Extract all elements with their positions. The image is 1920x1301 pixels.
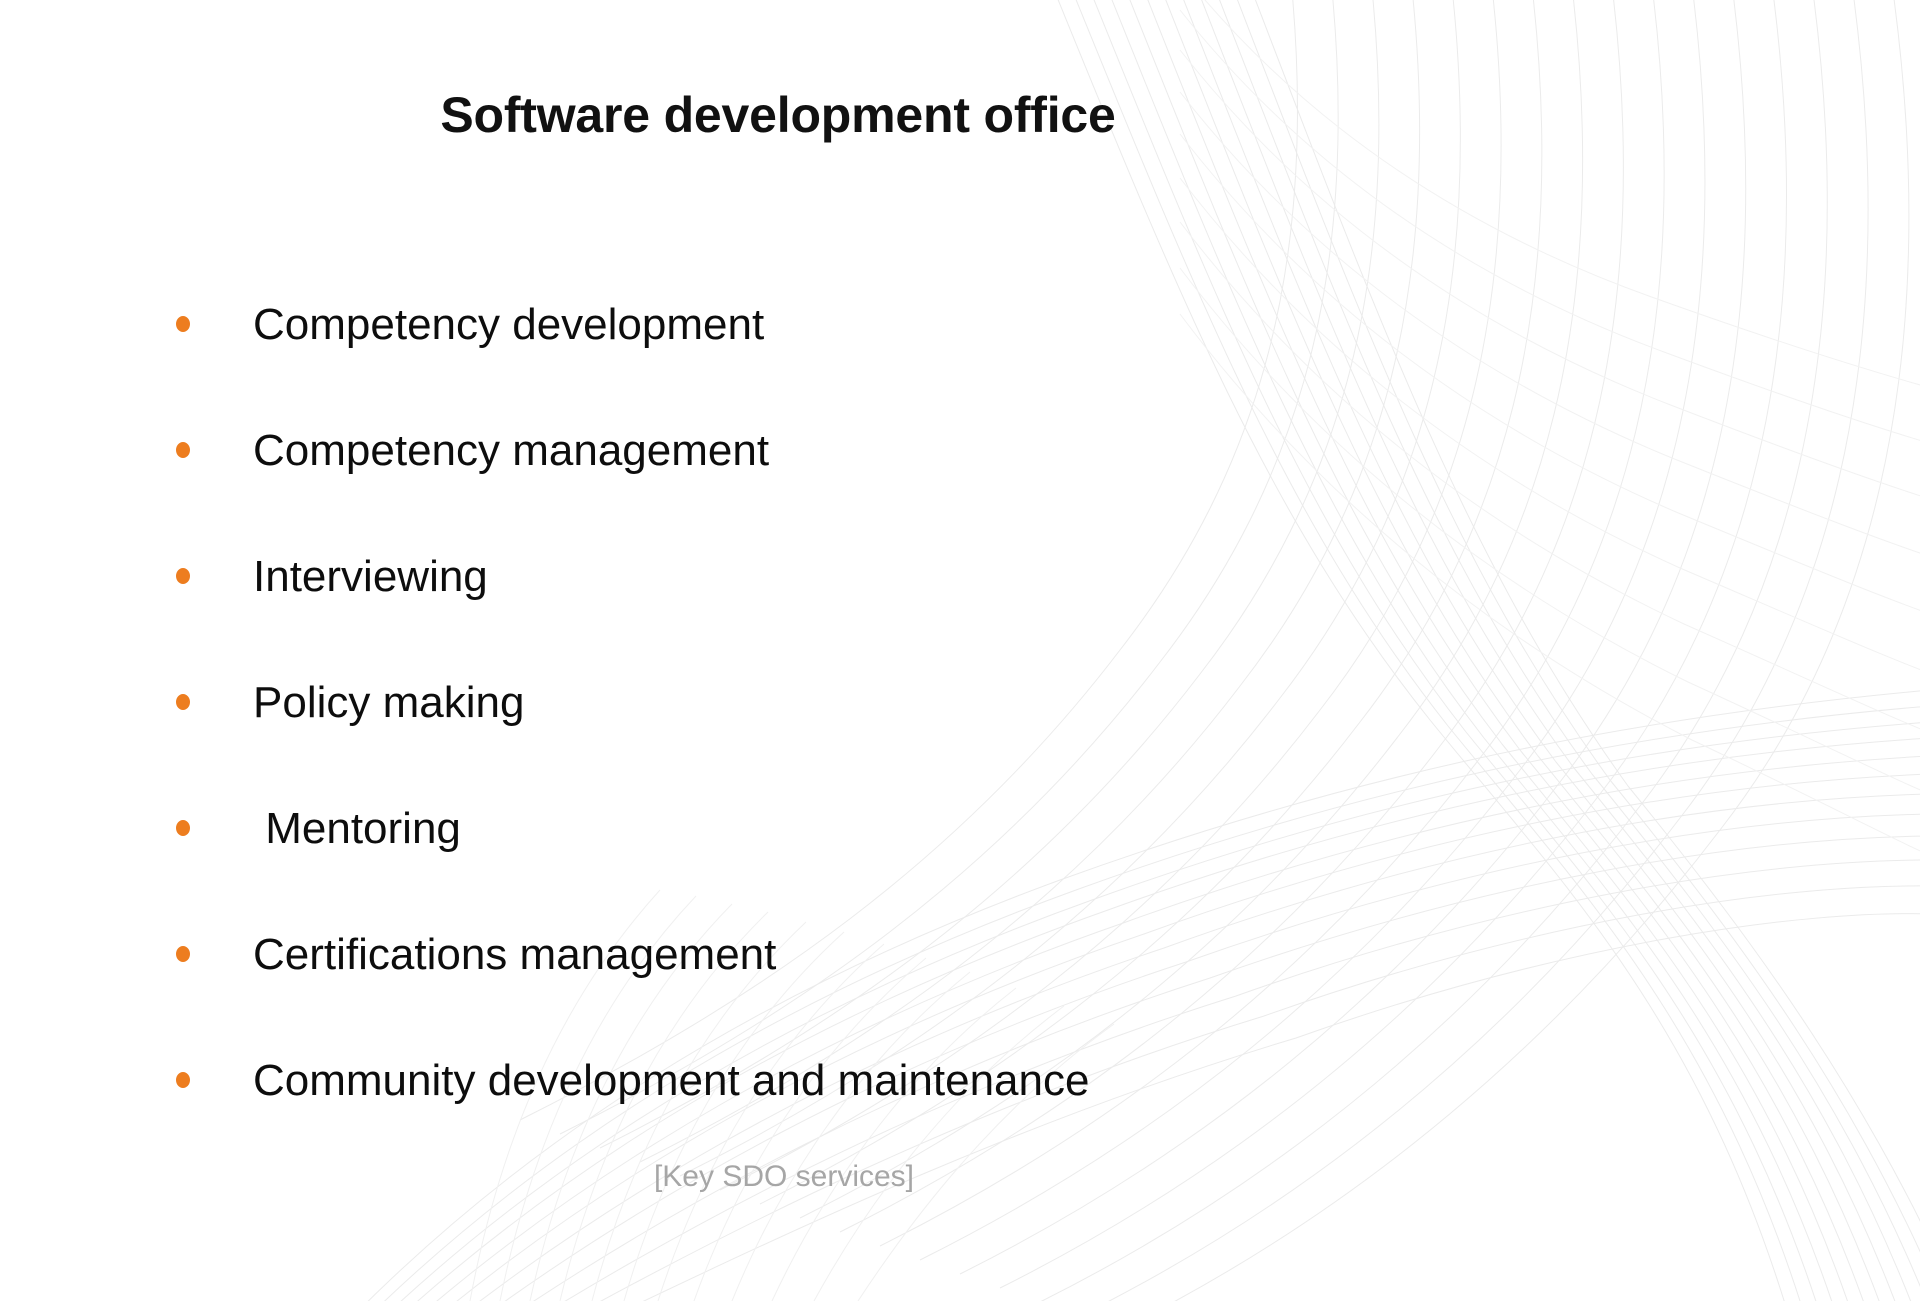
bullet-dot-icon xyxy=(176,316,190,332)
bullet-dot-icon xyxy=(176,568,190,584)
list-item-label: Policy making xyxy=(253,640,1426,766)
bullet-dot-icon xyxy=(176,694,190,710)
footer-note: [Key SDO services] xyxy=(0,1160,1744,1194)
presentation-slide: Software development office Competency d… xyxy=(0,0,1920,1301)
bullet-dot-icon xyxy=(176,820,190,836)
list-item-label: Certifications management xyxy=(253,892,1426,1018)
list-item-label: Community development and maintenance xyxy=(253,1018,1426,1144)
list-item: Competency development xyxy=(176,262,1426,388)
list-item-label: Competency development xyxy=(253,262,1426,388)
key-services-list: Competency development Competency manage… xyxy=(176,262,1426,1144)
list-item: Mentoring xyxy=(176,766,1426,892)
list-item-label: Competency management xyxy=(253,388,1426,514)
bullet-dot-icon xyxy=(176,1072,190,1088)
bullet-dot-icon xyxy=(176,442,190,458)
list-item-label: Interviewing xyxy=(253,514,1426,640)
list-item: Competency management xyxy=(176,388,1426,514)
list-item: Policy making xyxy=(176,640,1426,766)
list-item-label: Mentoring xyxy=(253,766,1426,892)
list-item: Interviewing xyxy=(176,514,1426,640)
list-item: Community development and maintenance xyxy=(176,1018,1426,1144)
bullet-dot-icon xyxy=(176,946,190,962)
page-title: Software development office xyxy=(0,88,1738,143)
list-item: Certifications management xyxy=(176,892,1426,1018)
